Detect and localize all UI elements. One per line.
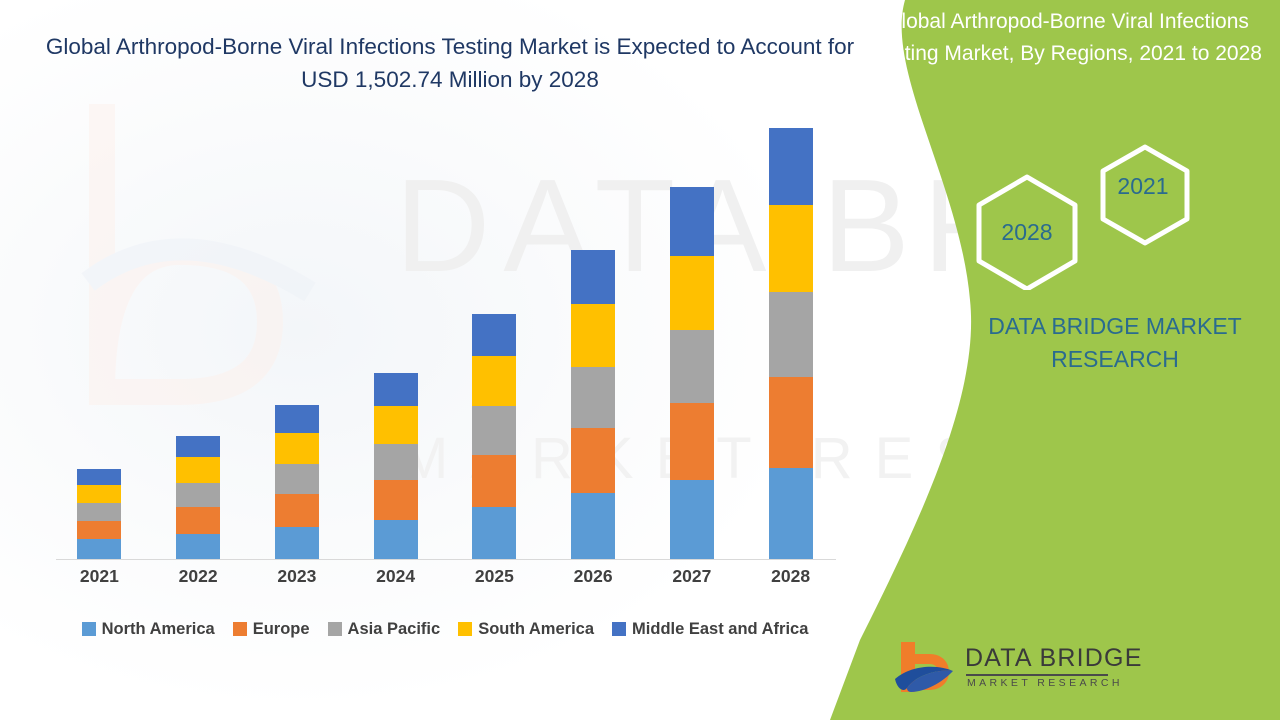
page-title: Global Arthropod-Borne Viral Infections … [40,30,860,96]
databridge-b-swoosh-icon [893,638,955,700]
bar-segment[interactable] [374,520,418,559]
bar-segment[interactable] [176,436,220,457]
bar-segment[interactable] [275,405,319,433]
bar-segment[interactable] [769,128,813,204]
legend-item[interactable]: Asia Pacific [328,620,441,639]
bar-segment[interactable] [571,304,615,367]
legend-item[interactable]: Europe [233,620,310,639]
bar-segment[interactable] [374,406,418,444]
x-axis-tick-label: 2023 [252,566,342,587]
legend-swatch [612,622,626,636]
legend-item[interactable]: South America [458,620,594,639]
bar-group[interactable] [77,469,121,559]
bar-group[interactable] [275,405,319,559]
bar-segment[interactable] [77,521,121,540]
bar-group[interactable] [176,436,220,559]
legend-swatch [82,622,96,636]
bar-group[interactable] [374,373,418,559]
logo-name-primary: DATA BRIDGE [965,644,1143,673]
panel-brand-name: DATA BRIDGE MARKET RESEARCH [940,310,1280,376]
bar-segment[interactable] [472,455,516,507]
bar-segment[interactable] [571,250,615,304]
hex-badge-start-year: 2021 [1103,173,1183,200]
bar-segment[interactable] [769,468,813,559]
bar-segment[interactable] [571,493,615,559]
bar-segment[interactable] [670,187,714,255]
legend-label: Asia Pacific [348,620,441,639]
bar-segment[interactable] [670,256,714,330]
bar-segment[interactable] [77,539,121,559]
x-axis-tick-label: 2022 [153,566,243,587]
bar-segment[interactable] [374,480,418,519]
databridge-logo: DATA BRIDGE MARKET RESEARCH [893,636,1108,706]
bar-group[interactable] [769,128,813,559]
x-axis-tick-label: 2024 [351,566,441,587]
panel-title: Global Arthropod-Borne Viral Infections … [872,6,1262,70]
chart-legend: North AmericaEuropeAsia PacificSouth Ame… [50,616,840,642]
x-axis-tick-label: 2025 [449,566,539,587]
x-axis-line [56,559,836,560]
bar-segment[interactable] [77,469,121,485]
hexagon-badges: 2021 2028 [955,135,1215,290]
bar-segment[interactable] [472,356,516,406]
x-axis-tick-label: 2026 [548,566,638,587]
x-axis-tick-labels: 20212022202320242025202620272028 [50,566,840,596]
bar-segment[interactable] [77,485,121,504]
bar-segment[interactable] [176,483,220,507]
bar-segment[interactable] [670,403,714,481]
bar-segment[interactable] [374,373,418,407]
legend-swatch [328,622,342,636]
bar-segment[interactable] [374,444,418,480]
hex-badge-end-year: 2028 [987,219,1067,246]
bar-segment[interactable] [275,433,319,464]
bar-segment[interactable] [176,507,220,534]
bar-segment[interactable] [275,464,319,494]
infographic-canvas: DATA BRIDGE MARKET RESEARCH Global Arthr… [0,0,1280,720]
bar-segment[interactable] [571,428,615,493]
hexagon-outlines-icon [955,135,1215,290]
bar-segment[interactable] [275,494,319,526]
legend-item[interactable]: Middle East and Africa [612,620,808,639]
bar-segment[interactable] [472,406,516,455]
bar-segment[interactable] [571,367,615,428]
x-axis-tick-label: 2021 [54,566,144,587]
bar-group[interactable] [571,250,615,559]
stacked-bar-chart [50,120,840,560]
legend-label: Europe [253,620,310,639]
legend-label: South America [478,620,594,639]
legend-label: North America [102,620,215,639]
bar-segment[interactable] [472,314,516,357]
bar-segment[interactable] [769,205,813,292]
bar-segment[interactable] [472,507,516,559]
bar-group[interactable] [472,314,516,559]
legend-label: Middle East and Africa [632,620,808,639]
bar-group[interactable] [670,187,714,559]
chart-plot-area [50,120,840,560]
x-axis-tick-label: 2027 [647,566,737,587]
bar-segment[interactable] [176,534,220,559]
logo-name-secondary: MARKET RESEARCH [967,677,1123,689]
logo-divider [966,674,1108,676]
bar-segment[interactable] [275,527,319,559]
legend-swatch [458,622,472,636]
bar-segment[interactable] [176,457,220,482]
bar-segment[interactable] [769,377,813,467]
bar-segment[interactable] [670,330,714,403]
bar-segment[interactable] [670,480,714,559]
x-axis-tick-label: 2028 [746,566,836,587]
bar-segment[interactable] [77,503,121,520]
bar-segment[interactable] [769,292,813,378]
legend-item[interactable]: North America [82,620,215,639]
legend-swatch [233,622,247,636]
